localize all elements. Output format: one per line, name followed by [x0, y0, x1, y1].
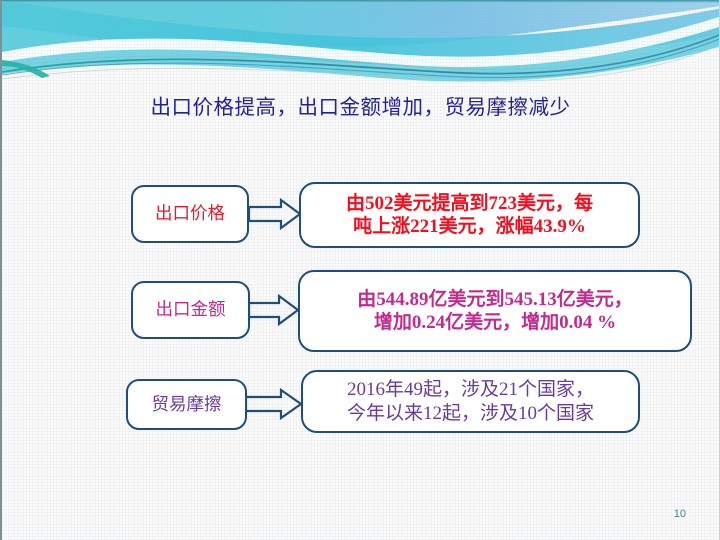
- detail-box-export-amount[interactable]: 由544.89亿美元到545.13亿美元， 增加0.24亿美元，增加0.04 %: [298, 270, 692, 352]
- label-box-export-amount[interactable]: 出口金额: [131, 281, 250, 339]
- decorative-wave-banner: [2, 0, 720, 92]
- label-text: 出口金额: [156, 299, 226, 320]
- label-box-export-price[interactable]: 出口价格: [131, 185, 249, 243]
- slide-canvas: 出口价格提高，出口金额增加，贸易摩擦减少 出口价格 由502美元提高到723美元…: [0, 0, 720, 540]
- page-title: 出口价格提高，出口金额增加，贸易摩擦减少: [2, 90, 719, 120]
- detail-line-1: 由544.89亿美元到545.13亿美元，: [357, 288, 633, 311]
- detail-line-2: 今年以来12起，涉及10个国家: [347, 402, 594, 425]
- detail-line-1: 由502美元提高到723美元，每: [346, 192, 593, 215]
- label-box-trade-friction[interactable]: 贸易摩擦: [126, 379, 247, 430]
- detail-box-trade-friction[interactable]: 2016年49起，涉及21个国家， 今年以来12起，涉及10个国家: [301, 370, 640, 433]
- label-text: 贸易摩擦: [152, 394, 222, 415]
- page-number: 10: [674, 508, 686, 520]
- detail-line-2: 增加0.24亿美元，增加0.04 %: [357, 311, 633, 334]
- block-arrow-right-icon-3: [245, 388, 303, 420]
- label-text: 出口价格: [155, 203, 225, 224]
- detail-line-2: 吨上涨221美元，涨幅43.9%: [346, 215, 593, 238]
- block-arrow-right-icon-2: [248, 294, 300, 326]
- block-arrow-right-icon-1: [248, 198, 302, 230]
- detail-box-export-price[interactable]: 由502美元提高到723美元，每 吨上涨221美元，涨幅43.9%: [299, 182, 640, 248]
- detail-line-1: 2016年49起，涉及21个国家，: [347, 378, 594, 401]
